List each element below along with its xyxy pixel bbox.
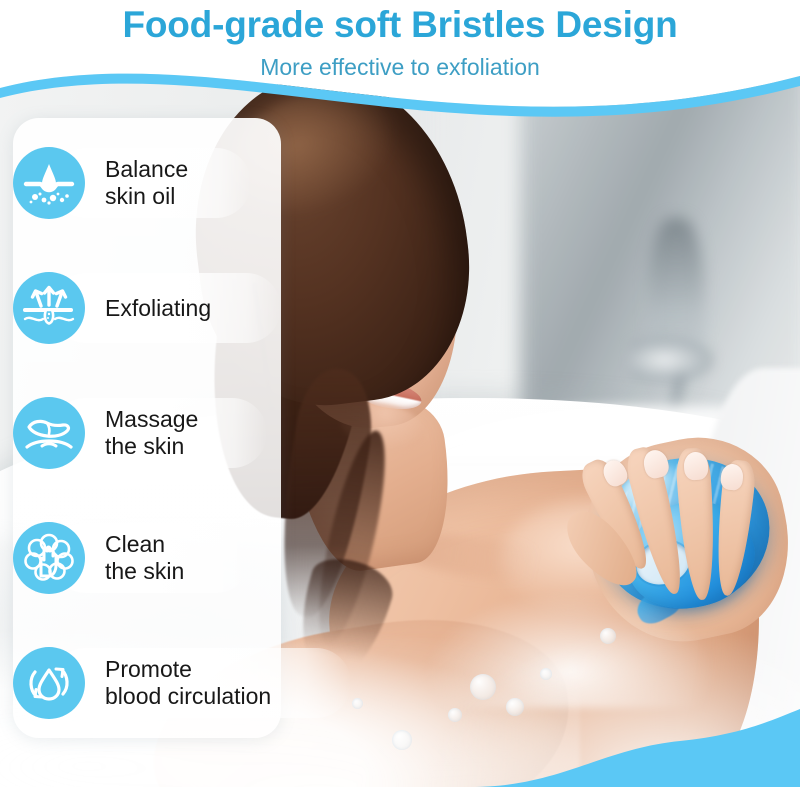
foam-hand-icon — [13, 522, 85, 594]
soap-bubble — [540, 668, 552, 680]
feature-label: Balance skin oil — [105, 156, 188, 210]
massage-hand-icon — [13, 397, 85, 469]
circulation-droplet-icon — [13, 647, 85, 719]
feature-item-clean-the-skin[interactable]: Clean the skin — [13, 515, 184, 601]
soap-bubble — [600, 628, 616, 644]
feature-item-balance-skin-oil[interactable]: Balance skin oil — [13, 140, 188, 226]
feature-label: Massage the skin — [105, 406, 198, 460]
feature-label: Promote blood circulation — [105, 656, 271, 710]
header: Food-grade soft Bristles Design More eff… — [0, 0, 800, 92]
feature-list: Balance skin oil Exfoli — [13, 118, 513, 738]
feature-item-promote-blood-circulation[interactable]: Promote blood circulation — [13, 640, 271, 726]
feature-label: Clean the skin — [105, 531, 184, 585]
feature-item-massage-the-skin[interactable]: Massage the skin — [13, 390, 198, 476]
feature-item-exfoliating[interactable]: Exfoliating — [13, 265, 211, 351]
exfoliating-arrows-icon — [13, 272, 85, 344]
page-subtitle: More effective to exfoliation — [0, 43, 800, 79]
oil-droplet-skin-icon — [13, 147, 85, 219]
product-marketing-image: Food-grade soft Bristles Design More eff… — [0, 0, 800, 787]
feature-label: Exfoliating — [105, 295, 211, 322]
page-title: Food-grade soft Bristles Design — [0, 0, 800, 43]
